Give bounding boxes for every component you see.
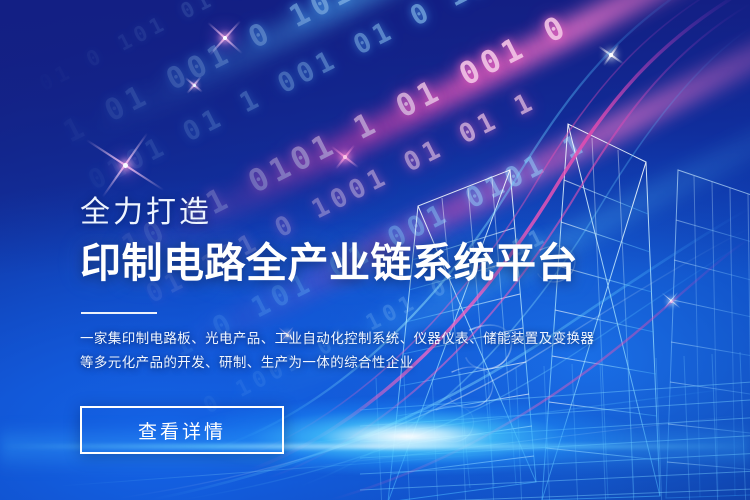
hero-eyebrow: 全力打造: [80, 196, 212, 230]
divider-rule: [81, 312, 157, 314]
hero-content: 全力打造 印制电路全产业链系统平台 一家集印制电路板、光电产品、工业自动化控制系…: [80, 0, 600, 500]
hero-banner: 01 0 101 01 1001 01 0 1 01 001 0 101 01 …: [0, 0, 750, 500]
hero-description: 一家集印制电路板、光电产品、工业自动化控制系统、仪器仪表、储能装置及变换器 等多…: [80, 327, 580, 375]
hero-description-line-1: 一家集印制电路板、光电产品、工业自动化控制系统、仪器仪表、储能装置及变换器: [80, 327, 580, 351]
hero-description-line-2: 等多元化产品的开发、研制、生产为一体的综合性企业: [80, 351, 580, 375]
view-details-button[interactable]: 查看详情: [80, 406, 284, 454]
hero-headline: 印制电路全产业链系统平台: [80, 240, 578, 286]
